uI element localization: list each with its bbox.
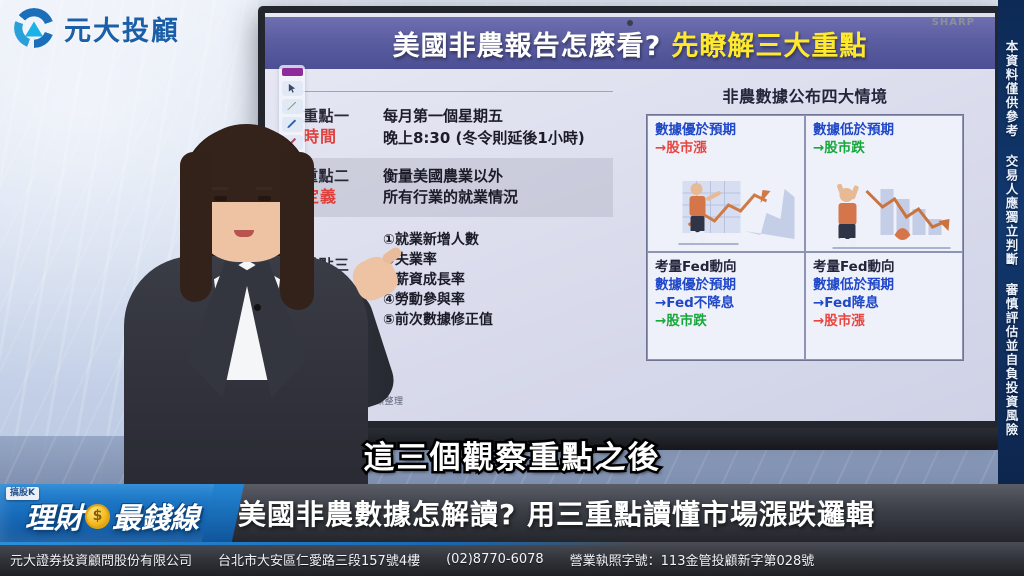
- company-phone: (02)8770-6078: [446, 552, 544, 567]
- key-point-one-value: 每月第一個星期五 晚上8:30 (冬令則延後1小時): [383, 106, 585, 150]
- lapel-microphone-icon: [254, 304, 261, 311]
- program-badge: 搞股K: [6, 487, 39, 500]
- slide-title-accent: 先瞭解三大重點: [671, 24, 867, 63]
- bottom-info-bar: 元大證券投資顧問股份有限公司 台北市大安區仁愛路三段157號4樓 (02)877…: [0, 542, 1024, 576]
- key-point-one-line-2: 晚上8:30 (冬令則延後1小時): [383, 128, 585, 150]
- key-point-two-line-2: 所有行業的就業情況: [383, 187, 518, 209]
- cursor-icon[interactable]: [282, 81, 303, 96]
- display-camera-dot: [627, 20, 633, 26]
- cell3-line-4: →股市跌: [655, 313, 800, 331]
- lower-third-banner: 搞股K 理財 $ 最錢線 美國非農數據怎解讀? 用三重點讀懂市場漲跌邏輯: [0, 484, 1024, 542]
- slide-right-column: 非農數據公布四大情境 數據優於預期 →股市漲: [625, 69, 995, 421]
- company-name: 元大證券投資顧問股份有限公司: [10, 550, 192, 569]
- falling-chart-person-icon: [806, 173, 962, 251]
- list-item: ⑤前次數據修正值: [383, 311, 493, 331]
- key-point-one-line-1: 每月第一個星期五: [383, 106, 585, 128]
- program-name-part1: 理財: [25, 495, 83, 537]
- channel-logo: 元大投顧: [14, 8, 180, 48]
- cell1-line-2: →股市漲: [655, 140, 800, 158]
- headline-bar: 美國非農數據怎解讀? 用三重點讀懂市場漲跌邏輯: [224, 484, 1024, 542]
- color-chip-icon[interactable]: [282, 68, 303, 76]
- company-address: 台北市大安區仁愛路三段157號4樓: [218, 550, 420, 569]
- cell1-line-1: 數據優於預期: [655, 122, 800, 140]
- yuanta-emblem-icon: [14, 8, 54, 48]
- program-logo: 搞股K 理財 $ 最錢線: [0, 484, 224, 542]
- slide-title-primary: 美國非農報告怎麼看?: [393, 24, 662, 63]
- side-disclaimer-strip: 本資料僅供參考 交易人應獨立判斷 審慎評估並自負投資風險: [998, 0, 1024, 546]
- scenario-matrix: 數據優於預期 →股市漲: [646, 114, 964, 361]
- matrix-cell-better-than-expected-stock-up: 數據優於預期 →股市漲: [647, 115, 805, 252]
- program-name-part2: 最錢線: [112, 495, 199, 537]
- channel-logo-text: 元大投顧: [64, 9, 180, 48]
- cell3-line-1: 考量Fed動向: [655, 259, 800, 277]
- cell4-line-2: 數據低於預期: [813, 277, 958, 295]
- matrix-cell-fed-view-better-no-cut: 考量Fed動向 數據優於預期 →Fed不降息 →股市跌: [647, 252, 805, 360]
- display-brand-label: SHARP: [932, 17, 975, 28]
- cell3-line-2: 數據優於預期: [655, 277, 800, 295]
- cell2-line-1: 數據低於預期: [813, 122, 958, 140]
- key-point-two-line-1: 衡量美國農業以外: [383, 166, 518, 188]
- key-point-three-list: ①就業新增人數 ②失業率 ③薪資成長率 ④勞動參與率 ⑤前次數據修正值: [383, 231, 493, 330]
- key-point-two-value: 衡量美國農業以外 所有行業的就業情況: [383, 166, 518, 210]
- cell4-line-3: →Fed降息: [813, 295, 958, 313]
- cell4-line-4: →股市漲: [813, 313, 958, 331]
- cell4-line-1: 考量Fed動向: [813, 259, 958, 277]
- presenter: [96, 108, 396, 540]
- matrix-cell-fed-view-worse-rate-cut: 考量Fed動向 數據低於預期 →Fed降息 →股市漲: [805, 252, 963, 360]
- rising-chart-person-icon: [648, 173, 804, 251]
- broadcast-frame: 元大投顧 美國非農報告怎麼看? 先瞭解三大重點 重點一 時間: [0, 0, 1024, 576]
- matrix-title: 非農數據公布四大情境: [633, 83, 977, 107]
- list-item: ④勞動參與率: [383, 291, 493, 311]
- license-number: 營業執照字號：113金管投顧新字第028號: [570, 550, 815, 569]
- matrix-cell-worse-than-expected-stock-down: 數據低於預期 →股市跌: [805, 115, 963, 252]
- side-disclaimer-text: 本資料僅供參考 交易人應獨立判斷 審慎評估並自負投資風險: [1002, 40, 1021, 437]
- divider-top: [299, 91, 613, 92]
- list-item: ③薪資成長率: [383, 271, 493, 291]
- bottom-bar-accent: [0, 542, 636, 545]
- cell3-line-3: →Fed不降息: [655, 295, 800, 313]
- program-logo-text: 理財 $ 最錢線: [25, 495, 199, 537]
- headline-text: 美國非農數據怎解讀? 用三重點讀懂市場漲跌邏輯: [238, 493, 875, 533]
- coin-icon: $: [85, 504, 110, 529]
- cell2-line-2: →股市跌: [813, 140, 958, 158]
